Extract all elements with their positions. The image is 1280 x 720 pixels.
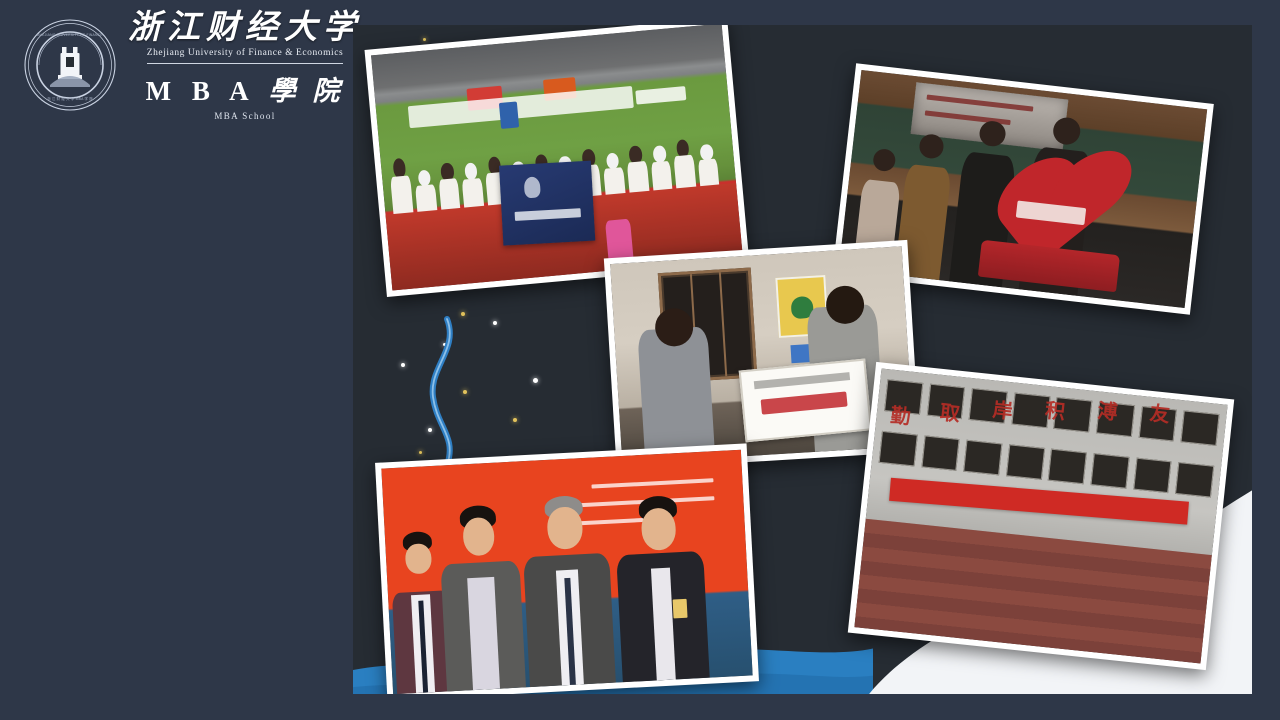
university-name-cn: 浙江财经大学 (128, 11, 362, 46)
wall-character: 友 (1148, 397, 1171, 428)
star-particle (493, 321, 497, 325)
wall-character: 积 (1044, 394, 1067, 425)
school-abbr: M B A (146, 76, 256, 107)
brand-text-block: 浙江财经大学 Zhejiang University of Finance & … (128, 9, 362, 121)
photo-image (381, 450, 752, 694)
university-name-en: Zhejiang University of Finance & Economi… (147, 48, 343, 58)
brand-divider (147, 63, 343, 64)
school-name-line: M B A 學 院 (146, 69, 345, 108)
mba-union-flag (499, 160, 595, 245)
photo-collage-panel: 勤 取 岸 积 溥 友 (353, 25, 1252, 694)
name-badge (673, 599, 688, 618)
wall-character: 溥 (1096, 394, 1119, 425)
wall-character: 勤 (889, 398, 912, 429)
school-name-cn: 學 院 (269, 69, 345, 108)
photo-image: 勤 取 岸 积 溥 友 (854, 369, 1227, 664)
person-figure (438, 507, 527, 692)
brand-lockup: ZHEJIANG UNIVERSITY OF FINANCE 浙 江 财 经 大… (22, 10, 342, 120)
star-particle (513, 418, 517, 422)
photo-red-banner[interactable] (375, 443, 759, 694)
person-figure (614, 497, 710, 682)
svg-text:浙 江 财 经 大 学 MBA 学 院: 浙 江 财 经 大 学 MBA 学 院 (47, 96, 93, 101)
photo-school-visit[interactable]: 勤 取 岸 积 溥 友 (848, 362, 1234, 670)
wall-character: 取 (939, 396, 962, 427)
svg-text:ZHEJIANG UNIVERSITY OF FINANCE: ZHEJIANG UNIVERSITY OF FINANCE (37, 33, 103, 37)
school-name-en: MBA School (214, 111, 275, 121)
photo-image (371, 25, 743, 290)
donation-heart-box (978, 169, 1129, 292)
person-figure (520, 498, 616, 688)
wall-character: 岸 (991, 393, 1014, 424)
university-seal-icon: ZHEJIANG UNIVERSITY OF FINANCE 浙 江 财 经 大… (22, 17, 118, 113)
star-particle (423, 38, 426, 41)
star-particle (533, 378, 538, 383)
slide-root: ZHEJIANG UNIVERSITY OF FINANCE 浙 江 财 经 大… (0, 0, 1280, 720)
star-particle (401, 363, 405, 367)
